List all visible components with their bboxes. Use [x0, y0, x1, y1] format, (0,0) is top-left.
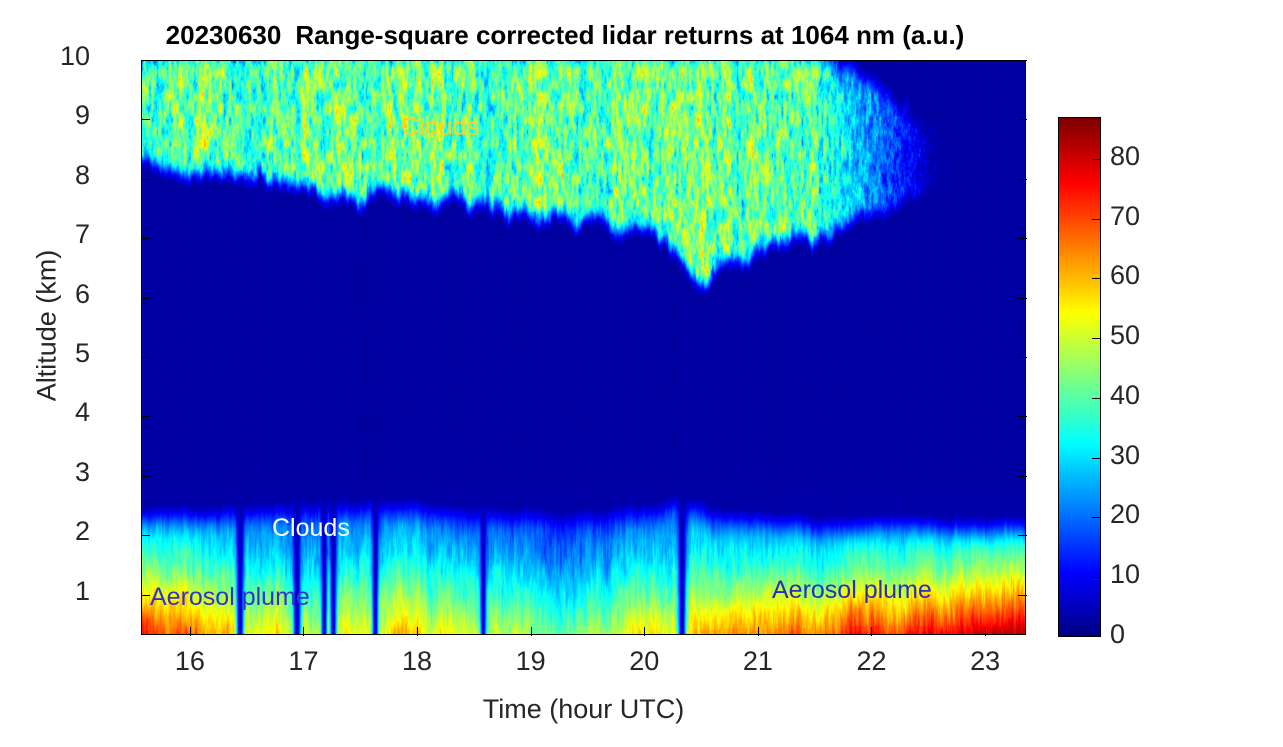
y-tick-mark — [1018, 476, 1027, 477]
x-tick-mark — [644, 627, 645, 636]
y-tick-mark — [1018, 416, 1027, 417]
colorbar-tick-label: 70 — [1110, 203, 1190, 230]
colorbar-gradient-canvas — [1059, 118, 1101, 637]
x-tick-mark — [985, 627, 986, 636]
y-tick-label: 7 — [30, 221, 90, 248]
colorbar-tick-mark — [1092, 338, 1100, 339]
colorbar-tick-label: 0 — [1110, 621, 1190, 648]
colorbar-tick-mark — [1092, 278, 1100, 279]
colorbar-tick-label: 60 — [1110, 262, 1190, 289]
y-tick-mark — [1018, 238, 1027, 239]
colorbar-tick-label: 80 — [1110, 143, 1190, 170]
x-tick-mark — [531, 627, 532, 636]
lidar-quicklook-figure: 20230630Range-square corrected lidar ret… — [0, 0, 1283, 747]
x-tick-label: 21 — [723, 648, 793, 675]
y-tick-mark — [141, 60, 150, 61]
y-tick-mark — [1018, 595, 1027, 596]
heatmap-plot-area — [141, 60, 1026, 635]
colorbar-tick-mark — [1092, 517, 1100, 518]
y-tick-label: 2 — [30, 518, 90, 545]
colorbar-tick-mark — [1092, 458, 1100, 459]
y-tick-label: 10 — [30, 43, 90, 70]
colorbar-tick-label: 50 — [1110, 322, 1190, 349]
y-tick-label: 4 — [30, 399, 90, 426]
x-tick-label: 18 — [382, 648, 452, 675]
y-tick-label: 3 — [30, 459, 90, 486]
y-tick-mark — [1018, 298, 1027, 299]
y-tick-mark — [141, 179, 150, 180]
y-tick-label: 1 — [30, 578, 90, 605]
colorbar-tick-mark — [1092, 159, 1100, 160]
x-tick-label: 22 — [836, 648, 906, 675]
colorbar-tick-label: 10 — [1110, 561, 1190, 588]
figure-title-text: Range-square corrected lidar returns at … — [295, 20, 964, 50]
y-tick-mark — [141, 416, 150, 417]
colorbar-tick-label: 20 — [1110, 501, 1190, 528]
y-tick-label: 9 — [30, 102, 90, 129]
colorbar — [1058, 117, 1101, 637]
lidar-heatmap-canvas — [142, 61, 1026, 635]
x-tick-mark — [303, 627, 304, 636]
y-tick-label: 5 — [30, 340, 90, 367]
colorbar-tick-mark — [1092, 577, 1100, 578]
colorbar-tick-mark — [1092, 219, 1100, 220]
x-tick-mark — [190, 627, 191, 636]
y-tick-label: 6 — [30, 281, 90, 308]
x-tick-label: 23 — [950, 648, 1020, 675]
colorbar-tick-label: 30 — [1110, 442, 1190, 469]
y-tick-mark — [141, 119, 150, 120]
y-tick-mark — [141, 595, 150, 596]
colorbar-tick-mark — [1092, 398, 1100, 399]
x-tick-mark — [758, 627, 759, 636]
figure-title: 20230630Range-square corrected lidar ret… — [0, 20, 1130, 51]
figure-title-date: 20230630 — [166, 20, 282, 50]
x-axis-label: Time (hour UTC) — [141, 694, 1026, 725]
y-tick-label: 8 — [30, 162, 90, 189]
y-tick-mark — [1018, 357, 1027, 358]
x-tick-label: 17 — [268, 648, 338, 675]
y-tick-mark — [141, 238, 150, 239]
y-tick-mark — [141, 357, 150, 358]
x-tick-mark — [417, 627, 418, 636]
x-tick-label: 20 — [609, 648, 679, 675]
y-tick-mark — [1018, 535, 1027, 536]
y-tick-mark — [141, 535, 150, 536]
x-tick-label: 19 — [496, 648, 566, 675]
y-tick-mark — [1018, 179, 1027, 180]
y-tick-mark — [1018, 119, 1027, 120]
y-tick-mark — [141, 476, 150, 477]
colorbar-tick-label: 40 — [1110, 382, 1190, 409]
x-tick-mark — [871, 627, 872, 636]
y-tick-mark — [141, 298, 150, 299]
x-tick-label: 16 — [155, 648, 225, 675]
y-tick-mark — [1018, 60, 1027, 61]
